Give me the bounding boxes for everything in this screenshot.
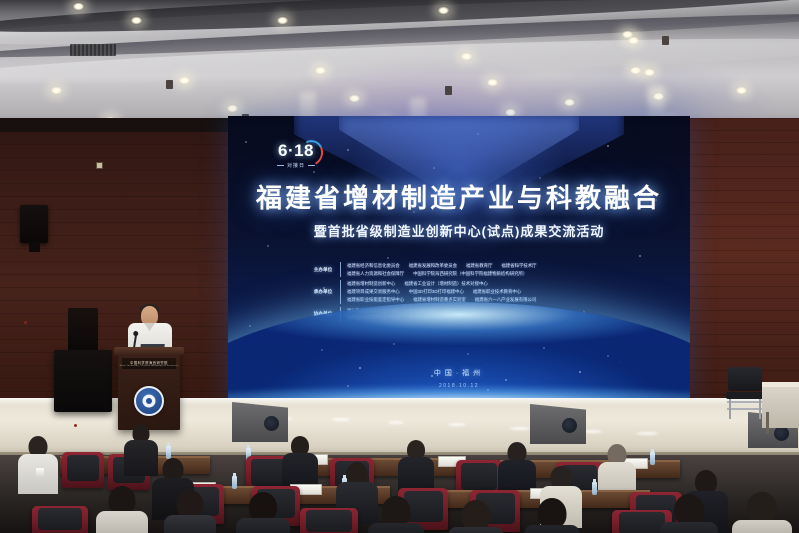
ceiling-vent — [70, 44, 116, 56]
audience-person-front — [660, 494, 718, 533]
organizer-name: 福建省增材制造创新中心 — [347, 281, 395, 286]
person-torso — [236, 518, 290, 533]
stage-monitor-speaker — [530, 404, 586, 444]
audience-person-front — [448, 500, 504, 533]
person-torso — [368, 523, 424, 533]
organizer-name: 福建省科学技术厅 — [501, 263, 536, 268]
chair-cushion — [619, 512, 666, 533]
floor-reflection — [448, 423, 466, 426]
floor-reflection — [510, 427, 530, 430]
pa-speaker-top-box — [68, 308, 98, 352]
water-bottle — [650, 452, 655, 465]
chair-cushion — [461, 463, 497, 490]
ceiling-speaker-icon — [166, 80, 173, 89]
paper-cup — [36, 468, 44, 477]
stacked-chairs — [724, 367, 766, 419]
screen-date-text: 2018.10.12 — [228, 383, 690, 389]
organizer-row: 主办单位福建省经济和信息化委员会福建省发展和改革委员会福建省教育厅福建省科学技术… — [306, 262, 626, 277]
chair-rail — [727, 408, 763, 410]
audience-person-front — [524, 498, 580, 533]
ceiling-downlight — [314, 66, 327, 75]
organizer-name: 福建省职业技能鉴定指导中心 — [347, 297, 404, 302]
person-torso — [732, 520, 792, 533]
organizer-name: 福建省职业技术教育中心 — [473, 289, 521, 294]
ceiling-downlight — [276, 16, 289, 25]
ceiling-downlight — [178, 76, 191, 85]
ceiling-downlight — [627, 36, 640, 45]
ceiling-downlight — [460, 52, 473, 61]
organizer-name: 福建省发展和改革委员会 — [409, 263, 457, 268]
audience-chair — [300, 508, 358, 533]
ceiling-downlight — [486, 78, 499, 87]
organizer-line: 福建省经济和信息化委员会福建省发展和改革委员会福建省教育厅福建省科学技术厅 — [347, 262, 626, 270]
organizer-divider — [340, 262, 341, 277]
stage-monitor-speaker — [232, 402, 288, 442]
wall-outlet — [96, 162, 103, 169]
organizer-divider — [340, 280, 341, 303]
auditorium-ceiling — [0, 0, 799, 132]
organizer-line: 福建省增材制造创新中心福建省工业设计（增材制造）技术对接中心 — [347, 280, 626, 288]
audience-person-front — [368, 496, 424, 533]
pa-subwoofer — [54, 350, 112, 412]
podium-top-surface — [114, 347, 184, 355]
audience-person-front — [96, 486, 148, 533]
organizer-name: 福建省六一八产业发展有限公司 — [475, 297, 536, 302]
chair-rail — [727, 401, 763, 403]
institute-emblem-icon — [134, 386, 164, 416]
ceiling-speaker-icon — [662, 36, 669, 45]
chair-cushion — [306, 510, 351, 532]
organizer-name: 中国科学院海西研究院（中国科学院福建物质结构研究所） — [413, 271, 527, 276]
podium-banner-line2: Haixi Institutes, Chinese Academy of Sci… — [120, 365, 179, 367]
side-table — [762, 382, 799, 428]
person-torso — [96, 511, 148, 533]
floor-reflection — [332, 418, 350, 421]
chair-leg — [759, 399, 761, 419]
audience-chair — [32, 506, 88, 533]
speaker-cone-icon — [562, 418, 577, 433]
organizer-name: 福建省经济和信息化委员会 — [347, 263, 400, 268]
ceiling-downlight — [72, 2, 85, 11]
organizer-name: 福建省人力资源和社会保障厅 — [347, 271, 404, 276]
audience-person — [18, 436, 58, 492]
person-torso — [164, 515, 216, 533]
screen-main-title: 福建省增材制造产业与科教融合 — [228, 178, 690, 215]
event-logo-6-18: 6·18 对接日 — [268, 142, 324, 169]
audience-person — [282, 436, 318, 488]
chair-cushion — [38, 508, 82, 530]
chair-cushion — [251, 459, 285, 486]
water-bottle — [232, 476, 237, 489]
audience-person — [398, 440, 434, 492]
floor-reflection — [388, 421, 404, 424]
chair-cushion — [67, 455, 100, 481]
organizer-line: 福建省人力资源和社会保障厅中国科学院海西研究院（中国科学院福建物质结构研究所） — [347, 270, 626, 278]
ceiling-downlight — [735, 86, 748, 95]
organizer-lines: 福建省经济和信息化委员会福建省发展和改革委员会福建省教育厅福建省科学技术厅福建省… — [347, 262, 626, 277]
ceiling-downlight — [563, 98, 576, 107]
organizer-name: 福建省教育厅 — [466, 263, 492, 268]
wall-mounted-speaker — [20, 205, 48, 243]
screen-subtitle: 暨首批省级制造业创新中心(试点)成果交流活动 — [228, 221, 690, 240]
speaker-led-icon — [74, 424, 77, 427]
ceiling-speaker-icon — [445, 86, 452, 95]
podium-name-banner: 中国科学院海西研究院 Haixi Institutes, Chinese Aca… — [122, 358, 176, 369]
person-torso — [660, 522, 718, 533]
organizer-line: 福建项目成果交易服务中心中国3D打印3D打印福建中心福建省职业技术教育中心 — [347, 288, 626, 296]
ceiling-downlight — [437, 6, 450, 15]
conference-photo-scene: 6·18 对接日 福建省增材制造产业与科教融合 暨首批省级制造业创新中心(试点)… — [0, 0, 799, 533]
ceiling-downlight — [348, 94, 361, 103]
speaker-cone-icon — [264, 416, 279, 431]
speaker-podium: 中国科学院海西研究院 Haixi Institutes, Chinese Aca… — [118, 352, 180, 430]
audience-chair — [62, 452, 104, 488]
organizer-name: 福建省工业设计（增材制造）技术对接中心 — [404, 281, 487, 286]
speaker-cone-icon — [774, 426, 789, 441]
speaker-led-icon — [24, 321, 27, 324]
chair-seat — [726, 392, 764, 399]
organizer-role-label: 承办单位 — [306, 288, 340, 296]
chair-back — [728, 367, 762, 391]
water-bottle — [592, 482, 597, 495]
screen-location-text: 中国·福州 — [228, 368, 690, 378]
audience-person-front — [732, 492, 792, 533]
audience-person-front — [164, 490, 216, 533]
organizer-name: 中国3D打印3D打印福建中心 — [409, 289, 464, 294]
person-torso — [524, 525, 580, 533]
audience-person-front — [236, 492, 290, 533]
table-top-edge — [762, 382, 799, 387]
ceiling-downlight — [226, 104, 239, 113]
ceiling-downlight — [130, 16, 143, 25]
organizer-role-label: 主办单位 — [306, 266, 340, 274]
organizer-name: 福建项目成果交易服务中心 — [347, 289, 400, 294]
organizer-row: 承办单位福建省增材制造创新中心福建省工业设计（增材制造）技术对接中心福建项目成果… — [306, 280, 626, 303]
ceiling-downlight — [50, 86, 63, 95]
ceiling-downlight — [629, 66, 642, 75]
organizer-lines: 福建省增材制造创新中心福建省工业设计（增材制造）技术对接中心福建项目成果交易服务… — [347, 280, 626, 303]
led-stage-screen: 6·18 对接日 福建省增材制造产业与科教融合 暨首批省级制造业创新中心(试点)… — [228, 116, 690, 404]
chair-leg — [729, 399, 731, 419]
person-torso — [448, 527, 504, 533]
floor-reflection — [636, 432, 658, 435]
ceiling-downlight — [643, 68, 656, 77]
table-leg — [766, 412, 769, 434]
